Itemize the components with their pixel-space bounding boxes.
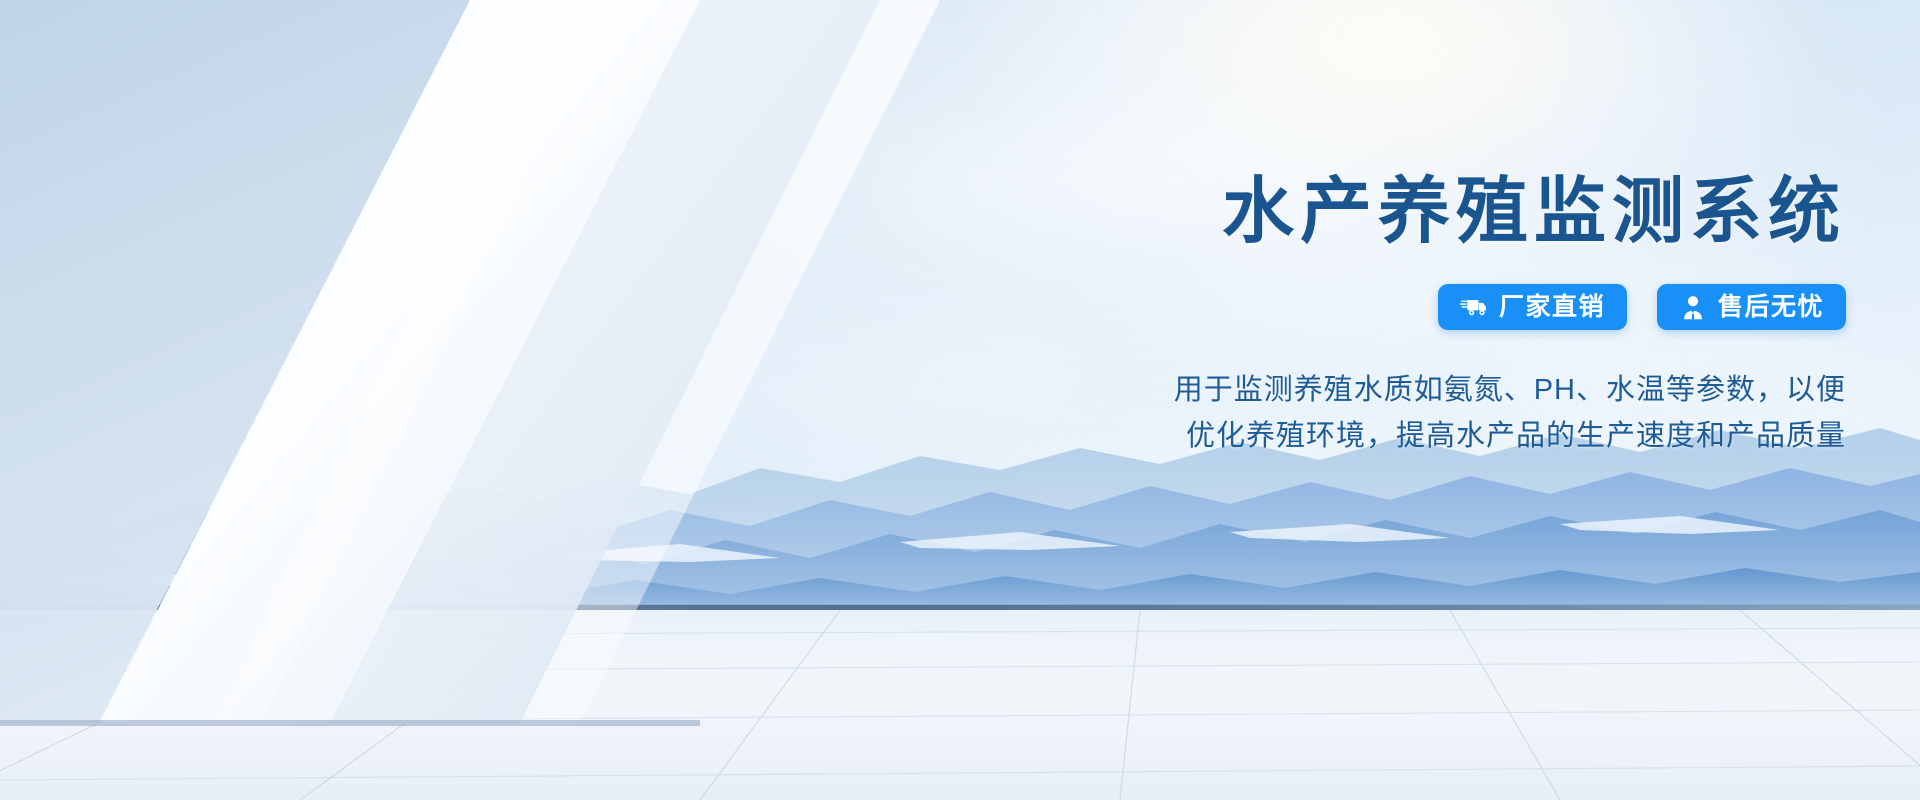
hero-description: 用于监测养殖水质如氨氮、PH、水温等参数，以便 优化养殖环境，提高水产品的生产速…	[836, 368, 1846, 460]
plaza-floor	[0, 610, 1920, 800]
page-title: 水产养殖监测系统	[836, 176, 1846, 248]
customer-service-person-icon	[1679, 294, 1707, 320]
badge-after-sales[interactable]: 售后无忧	[1657, 284, 1846, 330]
description-line: 优化养殖环境，提高水产品的生产速度和产品质量	[836, 414, 1846, 460]
badge-factory-direct[interactable]: 厂家直销	[1438, 284, 1627, 330]
badge-label: 售后无忧	[1718, 295, 1824, 320]
hero-banner: 水产养殖监测系统 厂家直销	[0, 0, 1920, 800]
badge-label: 厂家直销	[1499, 295, 1605, 320]
description-line: 用于监测养殖水质如氨氮、PH、水温等参数，以便	[836, 368, 1846, 414]
hero-content: 水产养殖监测系统 厂家直销	[836, 176, 1846, 460]
badge-group: 厂家直销 售后无忧	[836, 284, 1846, 330]
truck-icon	[1460, 294, 1488, 320]
